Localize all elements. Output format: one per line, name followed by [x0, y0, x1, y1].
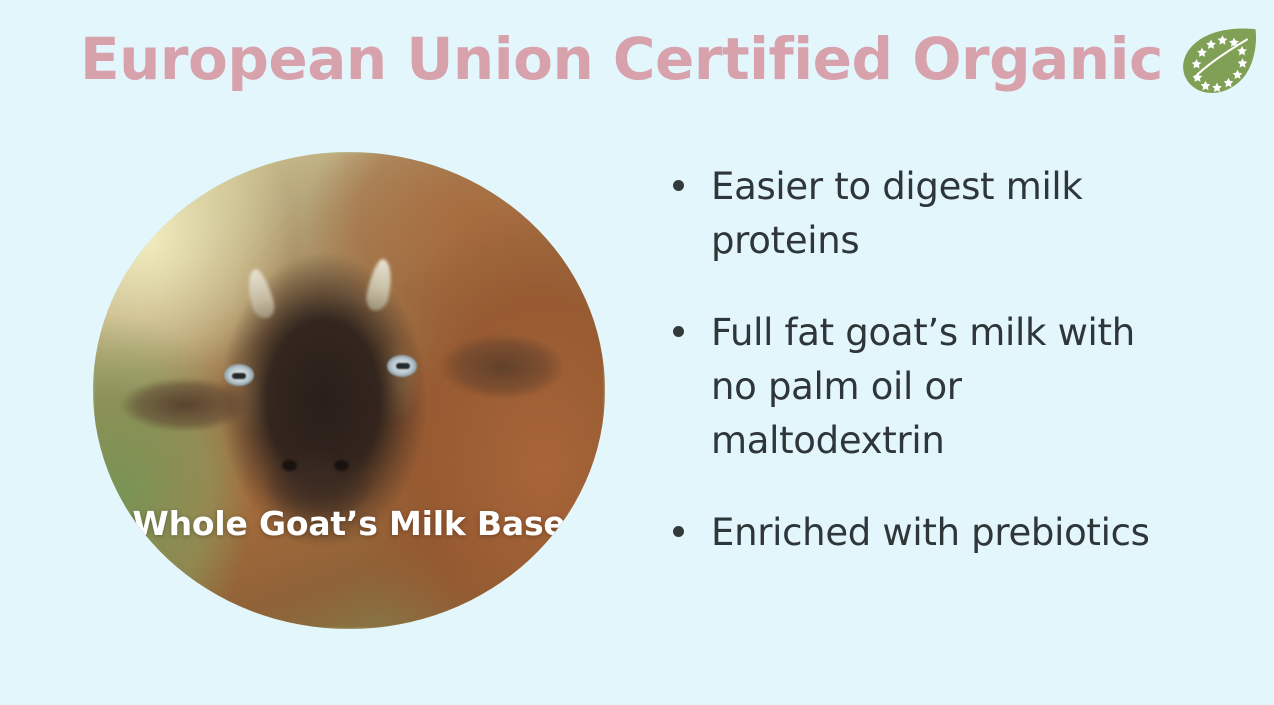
- goat-image-circle: Whole Goat’s Milk Base: [93, 152, 605, 629]
- list-item-label: Easier to digest milk proteins: [711, 160, 1186, 268]
- bullet-icon: [673, 326, 684, 337]
- goat-nostril-right-icon: [334, 460, 349, 471]
- page-title: European Union Certified Organic: [80, 18, 1259, 100]
- benefits-list: Easier to digest milk proteins Full fat …: [666, 160, 1186, 560]
- eu-organic-leaf-icon: [1181, 27, 1259, 95]
- goat-eye-left-icon: [224, 364, 254, 386]
- bullet-icon: [673, 526, 684, 537]
- list-item-label: Full fat goat’s milk with no palm oil or…: [711, 306, 1186, 468]
- list-item: Easier to digest milk proteins: [666, 160, 1186, 268]
- goat-eye-right-icon: [387, 355, 417, 377]
- list-item: Enriched with prebiotics: [666, 506, 1186, 560]
- goat-image-caption: Whole Goat’s Milk Base: [93, 497, 605, 550]
- goat-nostril-left-icon: [282, 460, 297, 471]
- page-title-text: European Union Certified Organic: [80, 30, 1163, 88]
- bullet-icon: [673, 180, 684, 191]
- list-item-label: Enriched with prebiotics: [711, 506, 1150, 560]
- slide-canvas: European Union Certified Organic: [0, 0, 1274, 705]
- list-item: Full fat goat’s milk with no palm oil or…: [666, 306, 1186, 468]
- goat-photo: [93, 152, 605, 629]
